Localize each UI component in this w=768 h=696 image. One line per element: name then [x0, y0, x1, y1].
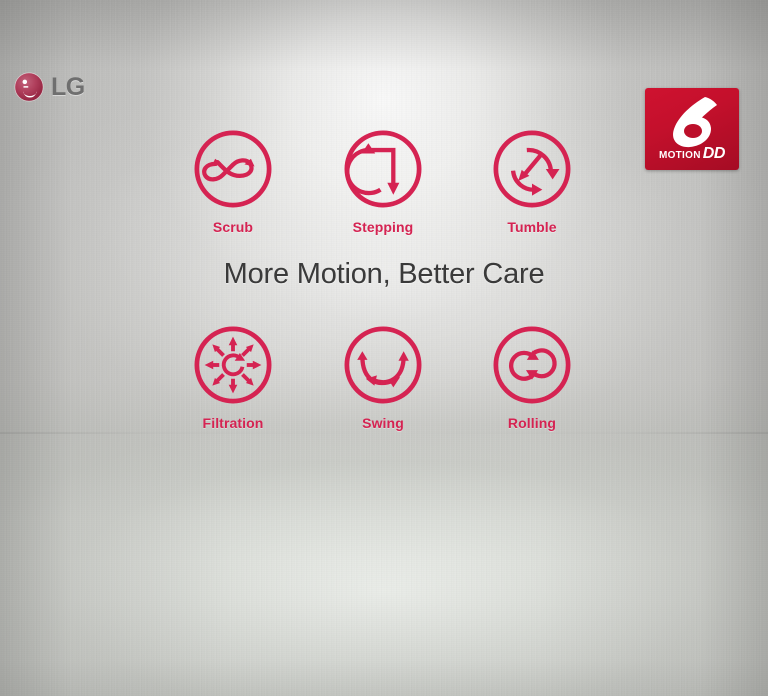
- feature-label-swing: Swing: [323, 415, 443, 431]
- feature-stepping: Stepping: [323, 126, 443, 235]
- lg-6motion-feature-graphic: LG MOTIONDD More Motion, Better Care Scr…: [0, 0, 768, 696]
- feature-filtration: Filtration: [173, 322, 293, 431]
- feature-label-filtration: Filtration: [173, 415, 293, 431]
- double-circle-arrows-icon: [489, 322, 575, 408]
- feature-label-scrub: Scrub: [173, 219, 293, 235]
- feature-scrub: Scrub: [173, 126, 293, 235]
- badge-dd-label: DD: [703, 145, 725, 162]
- headline-text: More Motion, Better Care: [0, 258, 768, 291]
- tumble-arrows-icon: [489, 126, 575, 212]
- lg-circle-face-icon: [14, 72, 44, 102]
- lg-logo: LG: [14, 72, 85, 102]
- swing-arc-icon: [340, 322, 426, 408]
- lg-wordmark: LG: [51, 75, 85, 100]
- radial-arrows-icon: [190, 322, 276, 408]
- feature-label-stepping: Stepping: [323, 219, 443, 235]
- badge-caption: MOTIONDD: [645, 146, 739, 162]
- badge-motion-label: MOTION: [659, 150, 701, 161]
- infinity-arrows-icon: [190, 126, 276, 212]
- six-motion-dd-badge: MOTIONDD: [645, 88, 739, 170]
- feature-tumble: Tumble: [472, 126, 592, 235]
- feature-swing: Swing: [323, 322, 443, 431]
- feature-rolling: Rolling: [472, 322, 592, 431]
- step-arrow-icon: [340, 126, 426, 212]
- feature-label-tumble: Tumble: [472, 219, 592, 235]
- feature-label-rolling: Rolling: [472, 415, 592, 431]
- stylized-six-icon: [661, 93, 723, 151]
